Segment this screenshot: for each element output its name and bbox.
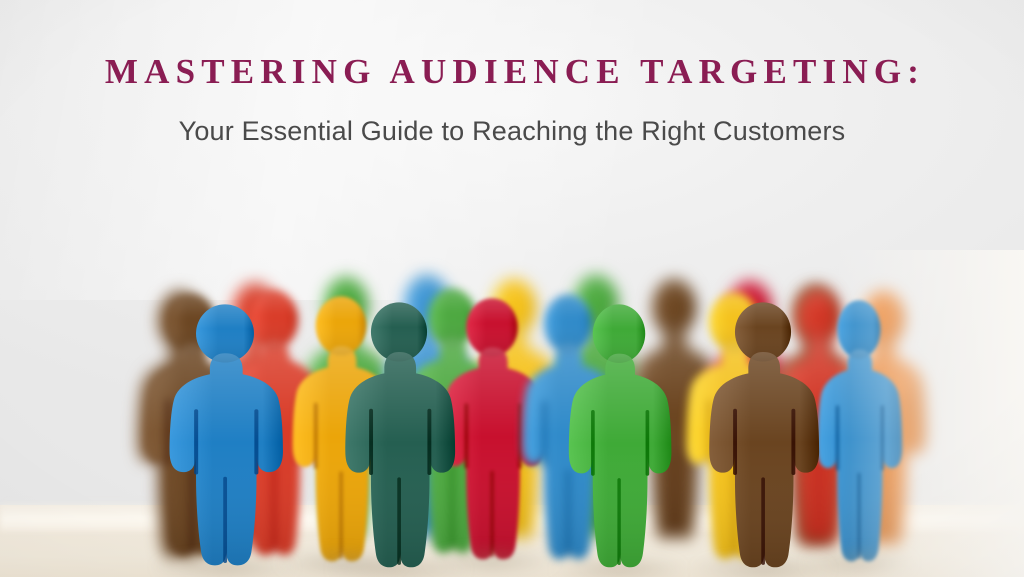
- figure-front-green: [562, 302, 676, 572]
- page-subtitle: Your Essential Guide to Reaching the Rig…: [0, 115, 1024, 147]
- figurine-shape: [702, 300, 824, 572]
- title-block: MASTERING AUDIENCE TARGETING: Your Essen…: [0, 52, 1024, 147]
- page-title: MASTERING AUDIENCE TARGETING:: [0, 52, 1024, 93]
- figure-front-blue: [162, 302, 288, 570]
- figurine-shape: [562, 302, 676, 572]
- figurine-shape: [812, 298, 906, 566]
- figurine-shape: [338, 300, 460, 572]
- figure-front-brown: [702, 300, 824, 572]
- poster-canvas: MASTERING AUDIENCE TARGETING: Your Essen…: [0, 0, 1024, 577]
- figurine-shape: [162, 302, 288, 570]
- figure-front-dark-green: [338, 300, 460, 572]
- figure-mid-blue-r: [812, 298, 906, 566]
